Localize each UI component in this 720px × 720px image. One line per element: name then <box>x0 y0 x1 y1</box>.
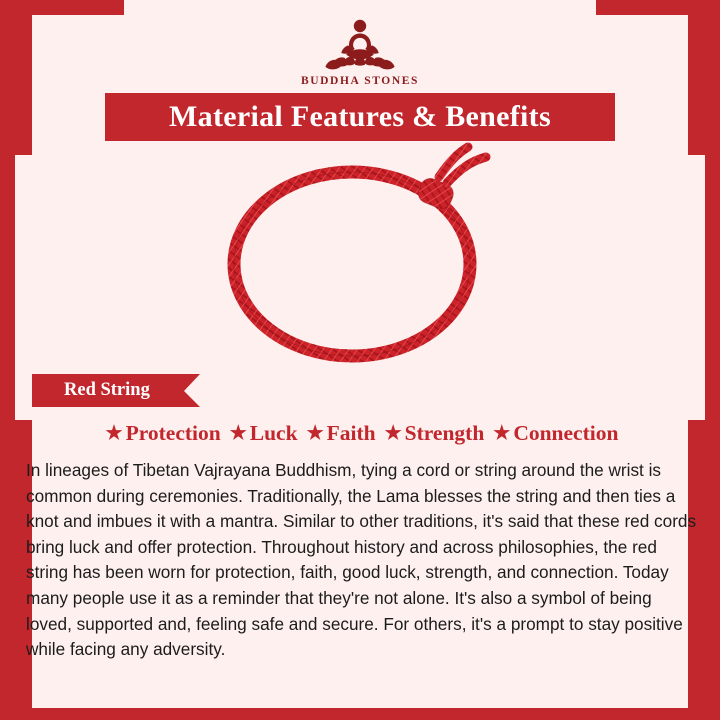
keyword-luck: ★ Luck <box>221 421 298 446</box>
benefit-keyword-list: ★ Protection ★ Luck ★ Faith ★ Strength ★… <box>40 421 684 446</box>
star-icon: ★ <box>493 424 510 443</box>
keyword-label: Faith <box>327 421 376 446</box>
keyword-faith: ★ Faith <box>298 421 376 446</box>
star-icon: ★ <box>230 424 247 443</box>
infographic-page: BUDDHA STONES Material Features & Benefi… <box>0 0 720 720</box>
keyword-connection: ★ Connection <box>484 421 618 446</box>
frame-bottom-band <box>0 708 720 720</box>
keyword-strength: ★ Strength <box>376 421 485 446</box>
page-title: Material Features & Benefits <box>169 100 551 134</box>
product-name: Red String <box>64 380 150 401</box>
keyword-label: Connection <box>513 421 618 446</box>
brand-logo: BUDDHA STONES <box>0 16 720 87</box>
product-name-tag: Red String <box>32 374 184 407</box>
star-icon: ★ <box>385 424 402 443</box>
keyword-label: Luck <box>250 421 298 446</box>
frame-right-band <box>705 0 720 720</box>
product-image <box>32 141 688 373</box>
red-braided-string-bracelet-icon <box>200 141 520 373</box>
keyword-label: Protection <box>126 421 221 446</box>
description-text: In lineages of Tibetan Vajrayana Buddhis… <box>24 458 704 663</box>
star-icon: ★ <box>307 424 324 443</box>
brand-name: BUDDHA STONES <box>0 75 720 87</box>
keyword-protection: ★ Protection <box>106 421 221 446</box>
lotus-meditation-figure-icon <box>314 16 406 72</box>
title-banner: Material Features & Benefits <box>105 93 615 141</box>
star-icon: ★ <box>106 424 123 443</box>
frame-left-band <box>0 0 15 720</box>
keyword-label: Strength <box>405 421 485 446</box>
